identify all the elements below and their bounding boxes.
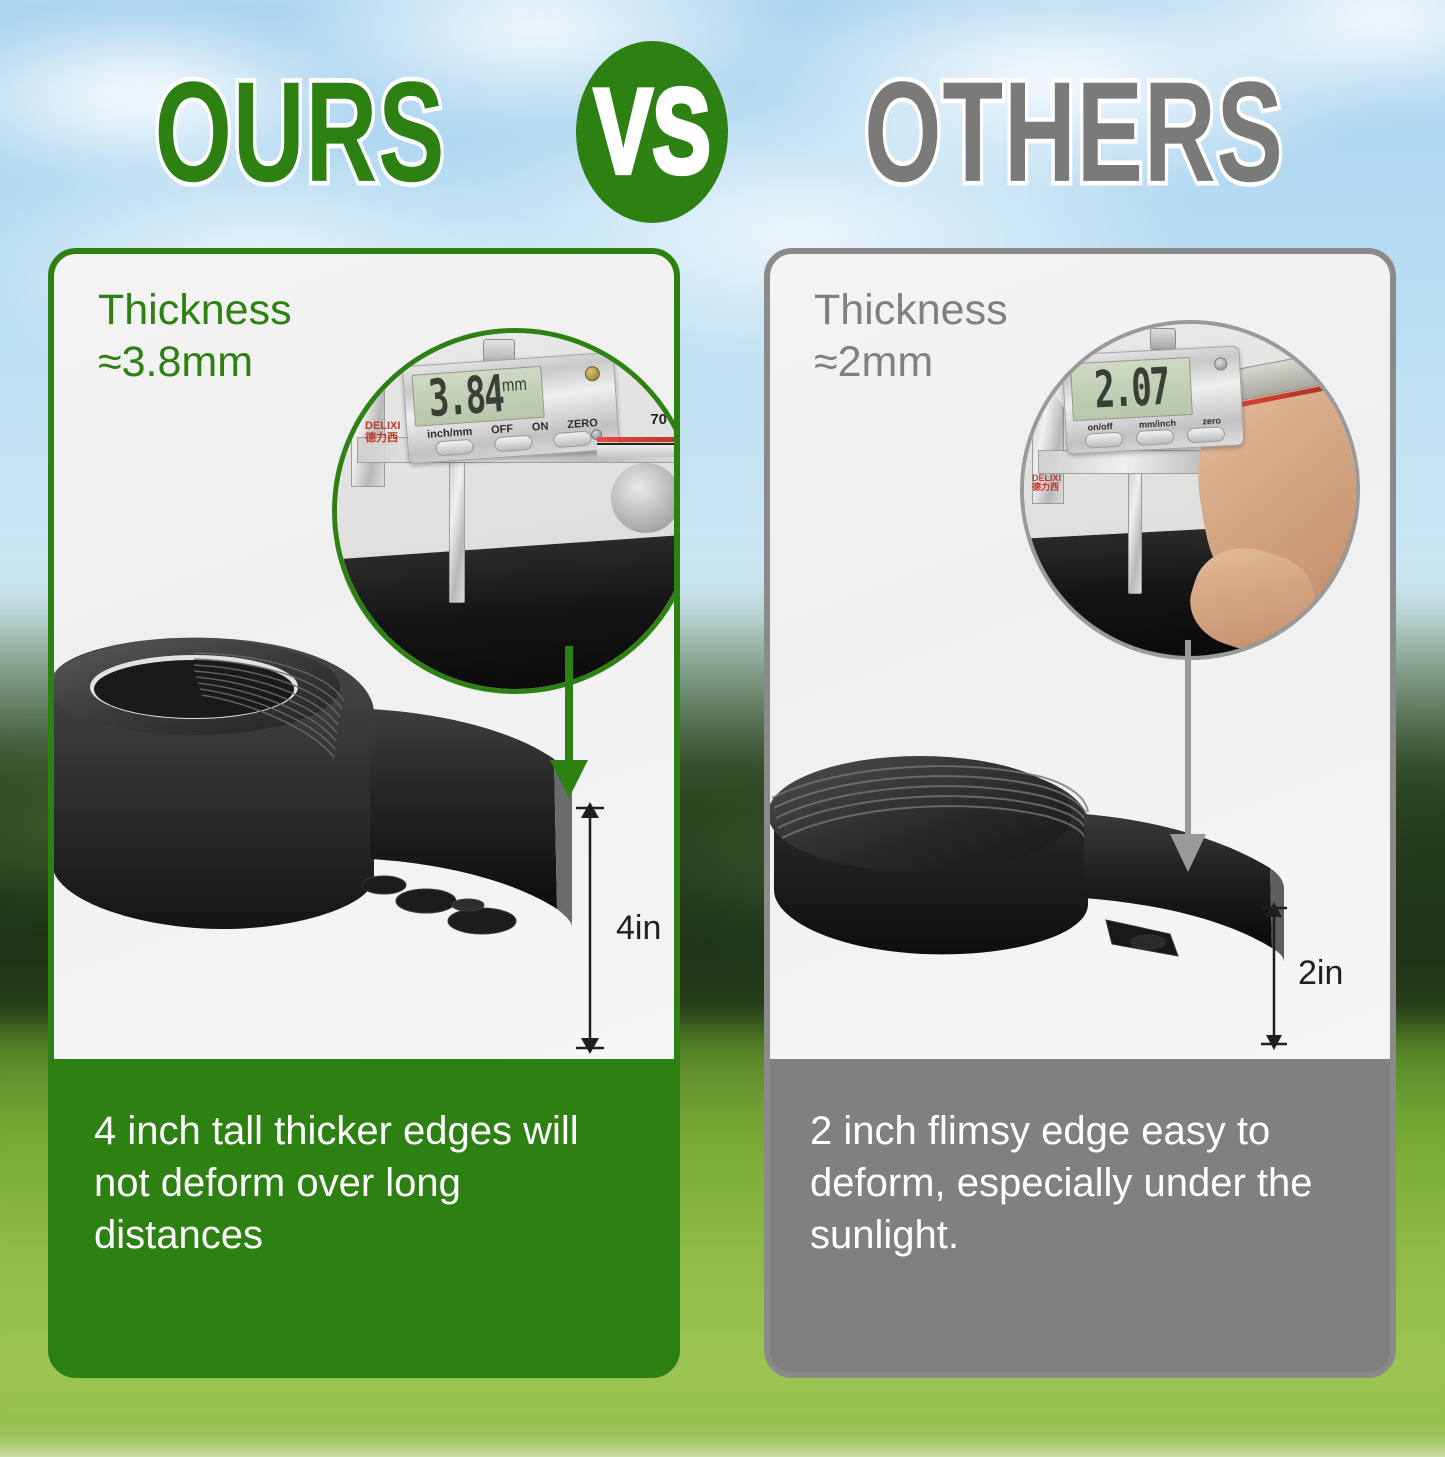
ours-caliper-body: 3.84 mm inch/mm OFF ON ZERO bbox=[402, 352, 620, 465]
ours-caliper-button-3[interactable] bbox=[553, 430, 592, 448]
others-caliper-btn-mminch[interactable]: mm/inch bbox=[1139, 418, 1176, 430]
others-dimension-line bbox=[1256, 902, 1292, 1050]
ours-thickness-title: Thickness bbox=[98, 284, 292, 336]
ours-caliper-screen: 3.84 mm bbox=[411, 366, 544, 427]
ours-caliper-roller bbox=[611, 463, 674, 533]
others-caliper-button-3[interactable] bbox=[1186, 426, 1225, 443]
ours-thickness-label: Thickness ≈3.8mm bbox=[98, 284, 292, 389]
others-caliper-screw bbox=[1214, 357, 1228, 371]
ours-caption: 4 inch tall thicker edges will not defor… bbox=[54, 1059, 674, 1372]
others-caliper-reading: 2.07 bbox=[1093, 357, 1170, 421]
ours-caliper-screw bbox=[584, 366, 600, 382]
ours-caliper-button-1[interactable] bbox=[435, 439, 474, 457]
ours-caliper-button-2[interactable] bbox=[494, 435, 533, 453]
others-thickness-title: Thickness bbox=[814, 284, 1008, 336]
others-caliper-screen: 2.07 bbox=[1070, 357, 1193, 421]
others-caliper-thumbscrew bbox=[1150, 328, 1176, 350]
ours-caliper-zoom-circle: 3.84 mm inch/mm OFF ON ZERO bbox=[332, 328, 674, 694]
ours-caliper-unit: mm bbox=[501, 374, 527, 396]
ours-edging-cross-section bbox=[332, 532, 674, 694]
comparison-card-ours: Thickness ≈3.8mm bbox=[48, 248, 680, 1378]
ours-caliper-btn-off[interactable]: OFF bbox=[491, 423, 514, 437]
ours-dimension-label: 4in bbox=[616, 909, 661, 948]
others-photo-area: Thickness ≈2mm bbox=[770, 254, 1390, 1059]
ours-caliper-reading: 3.84 bbox=[427, 365, 505, 430]
others-caliper-btn-onoff[interactable]: on/off bbox=[1087, 421, 1112, 432]
comparison-header: OURS VS OTHERS bbox=[0, 52, 1445, 212]
ours-caliper-blade bbox=[449, 453, 465, 603]
vs-badge: VS bbox=[576, 41, 728, 223]
ours-caliper-btn-on[interactable]: ON bbox=[532, 420, 549, 433]
others-caliper-brand-sub: 德力西 bbox=[1032, 483, 1061, 492]
others-thickness-value: ≈2mm bbox=[814, 336, 1008, 388]
ours-caliper-scale-bar bbox=[597, 443, 674, 457]
ours-caliper-brand: DELIXI 德力西 bbox=[365, 421, 400, 444]
ours-caliper-brand-name: DELIXI bbox=[365, 421, 400, 433]
header-ours-title: OURS bbox=[155, 61, 446, 204]
ours-caliper-scale-redline bbox=[597, 437, 674, 442]
ours-pointer-arrow bbox=[534, 646, 604, 806]
others-caliper-zoom-circle: 2.07 on/off mm/inch zero DELIXI 德力西 bbox=[1020, 320, 1360, 660]
ours-caliper-scale-tick: 70 bbox=[650, 411, 667, 428]
ours-thickness-value: ≈3.8mm bbox=[98, 336, 292, 388]
others-caption: 2 inch flimsy edge easy to deform, espec… bbox=[770, 1059, 1390, 1372]
others-caliper-body: 2.07 on/off mm/inch zero bbox=[1062, 345, 1245, 454]
others-caliper-btn-zero[interactable]: zero bbox=[1202, 415, 1221, 426]
comparison-card-others: Thickness ≈2mm bbox=[764, 248, 1396, 1378]
ours-photo-area: Thickness ≈3.8mm bbox=[54, 254, 674, 1059]
ours-dimension-line bbox=[570, 802, 610, 1054]
vs-label: VS bbox=[594, 72, 711, 192]
ours-caliper-brand-sub: 德力西 bbox=[365, 433, 400, 445]
others-edging-coil-image bbox=[770, 694, 1330, 1034]
others-caliper-brand: DELIXI 德力西 bbox=[1032, 474, 1061, 493]
others-pointer-arrow bbox=[1158, 640, 1218, 880]
others-caliper-button-2[interactable] bbox=[1136, 429, 1175, 446]
others-caliper-blade bbox=[1128, 464, 1142, 594]
others-thickness-label: Thickness ≈2mm bbox=[814, 284, 1008, 389]
others-caliper-button-1[interactable] bbox=[1085, 432, 1124, 449]
header-others-title: OTHERS bbox=[865, 61, 1285, 204]
